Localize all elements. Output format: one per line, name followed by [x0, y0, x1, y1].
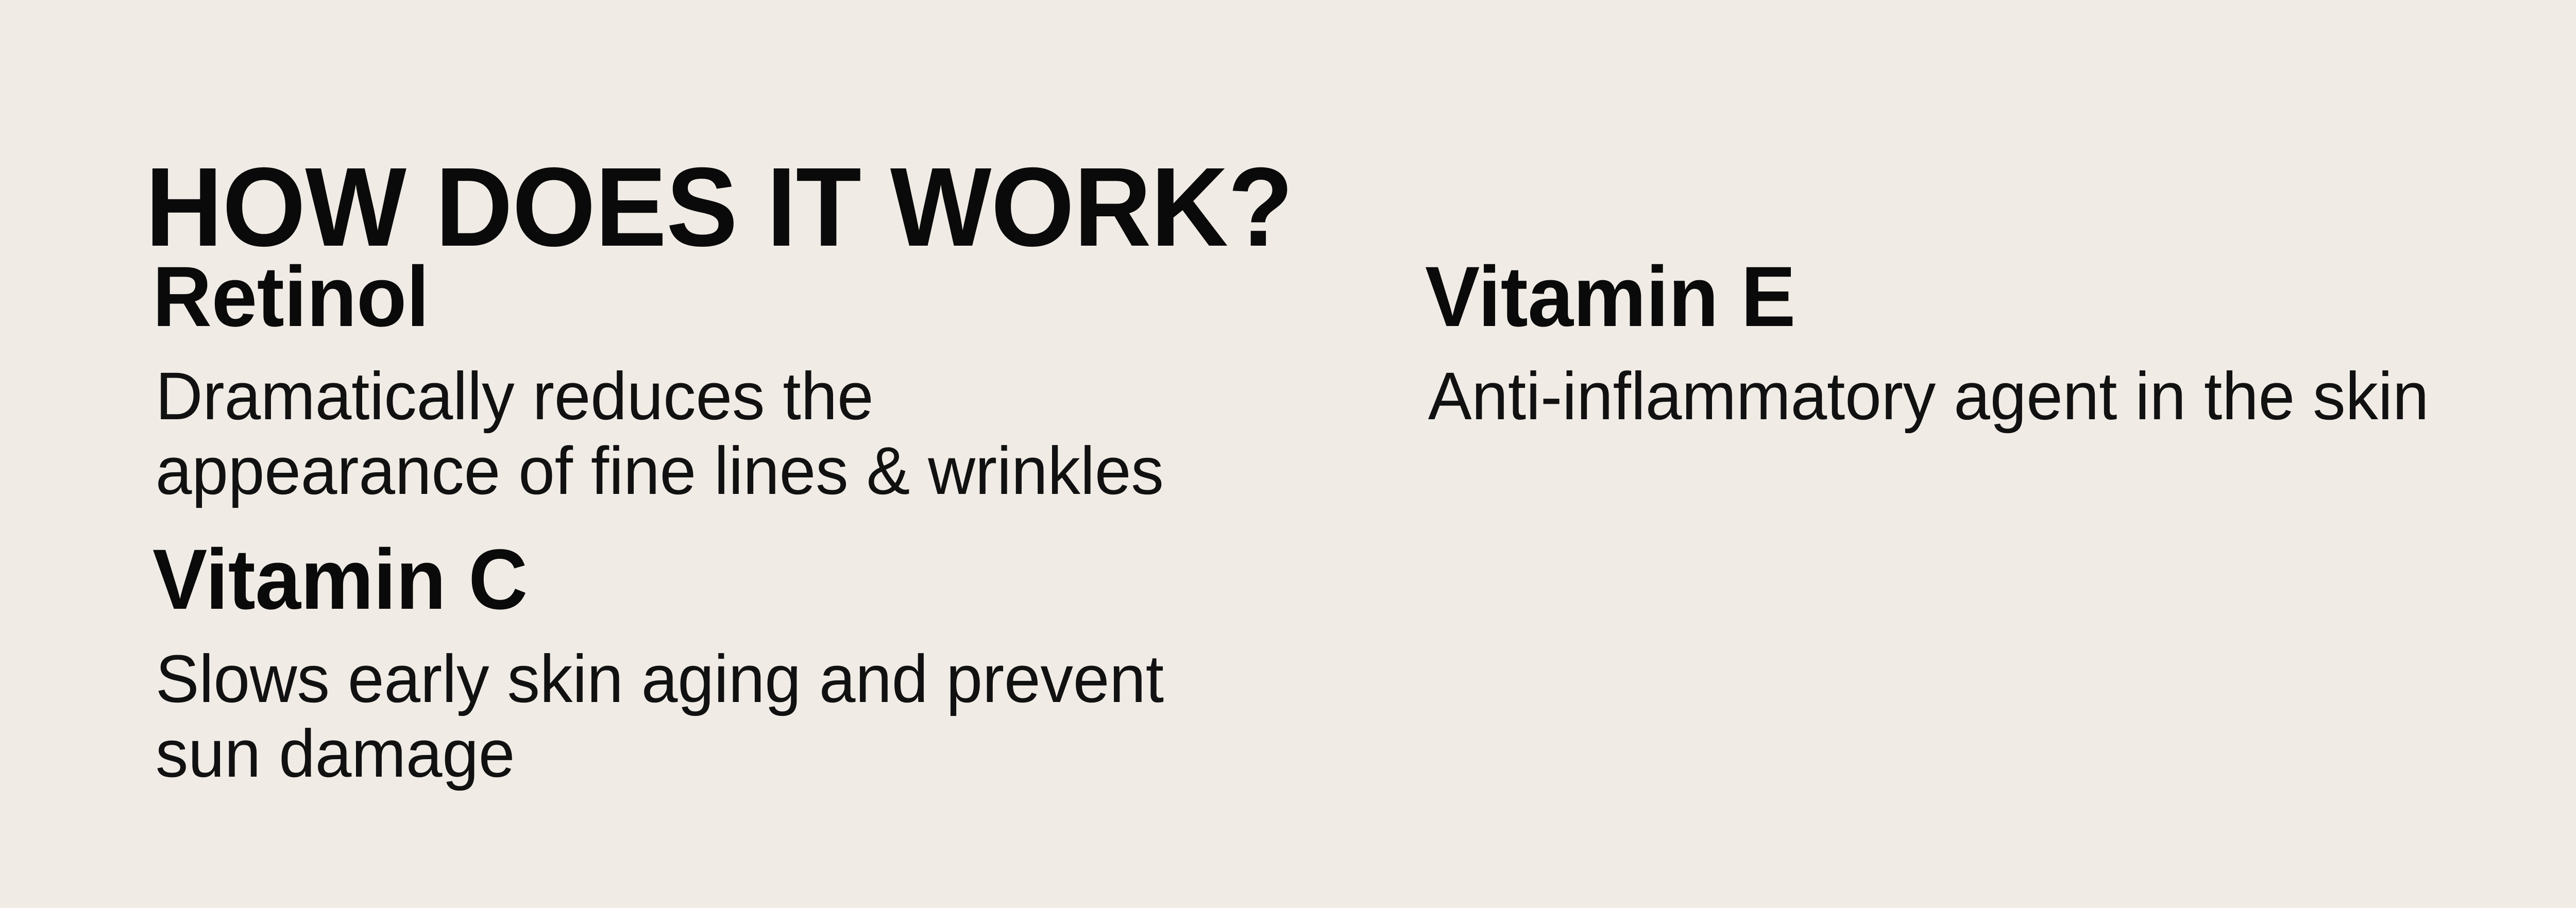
- ingredient-columns: Retinol Dramatically reduces the appeara…: [0, 0, 2576, 908]
- ingredient-name-retinol: Retinol: [152, 254, 1224, 340]
- ingredient-description-vitamin-c: Slows early skin aging and prevent sun d…: [152, 641, 1235, 791]
- ingredient-description-vitamin-e: Anti-inflammatory agent in the skin: [1425, 358, 2429, 433]
- ingredient-name-vitamin-c: Vitamin C: [152, 537, 1224, 623]
- ingredient-name-vitamin-e: Vitamin E: [1425, 254, 2418, 340]
- ingredient-block-vitamin-c: Vitamin C Slows early skin aging and pre…: [152, 537, 1268, 791]
- ingredient-block-retinol: Retinol Dramatically reduces the appeara…: [152, 254, 1268, 508]
- ingredient-block-vitamin-e: Vitamin E Anti-inflammatory agent in the…: [1425, 254, 2460, 433]
- slide-canvas: HOW DOES IT WORK? Retinol Dramatically r…: [0, 0, 2576, 908]
- ingredient-description-retinol: Dramatically reduces the appearance of f…: [152, 358, 1235, 508]
